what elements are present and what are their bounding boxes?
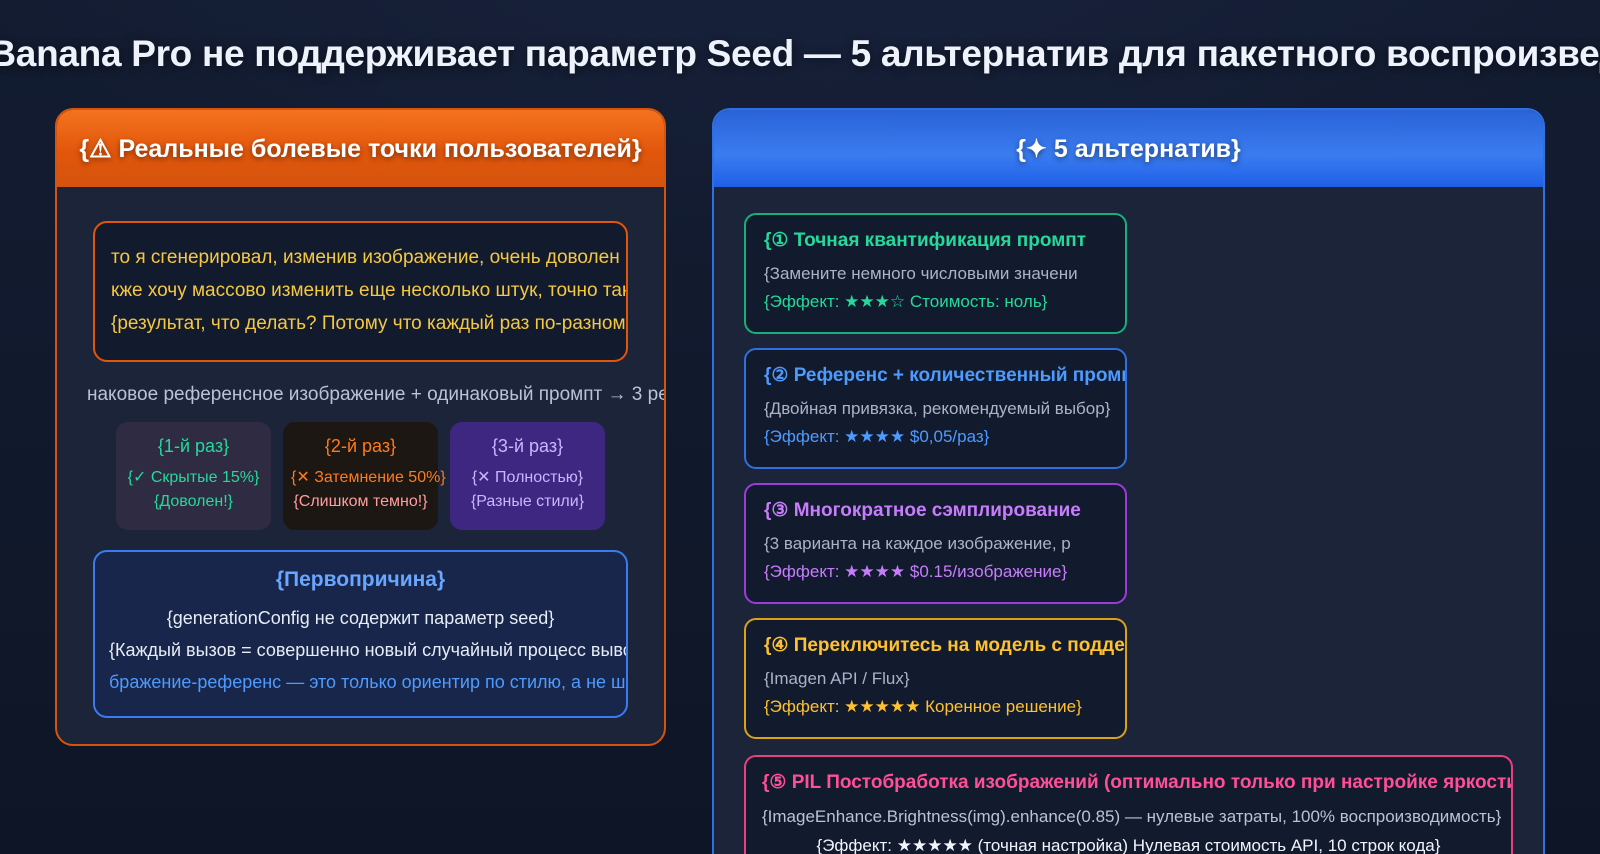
user-quote-line-3: {результат, что делать? Потому что кажды… (111, 307, 610, 340)
result-box-2-line-2: {Слишком темно!} (291, 490, 430, 514)
page-title: о Banana Pro не поддерживает параметр Se… (0, 33, 1600, 75)
result-box-1-line-1: {✓ Скрытые 15%} (124, 466, 263, 490)
alternative-1-title: {① Точная квантификация промпт (764, 229, 1107, 252)
pain-points-card-body: то я сгенерировал, изменив изображение, … (57, 187, 664, 744)
pil-subtitle: {ImageEnhance.Brightness(img).enhance(0.… (762, 802, 1495, 831)
alternative-box-1: {① Точная квантификация промпт {Замените… (744, 213, 1127, 334)
user-quote-line-1: то я сгенерировал, изменив изображение, … (111, 241, 610, 274)
pil-effect: {Эффект: ★★★★★ (точная настройка) Нулева… (762, 831, 1495, 854)
user-quote-box: то я сгенерировал, изменив изображение, … (93, 221, 628, 362)
root-cause-line-1: {generationConfig не содержит параметр s… (109, 602, 612, 634)
result-box-1-line-2: {Доволен!} (124, 490, 263, 514)
root-cause-line-2: {Каждый вызов = совершенно новый случайн… (109, 634, 612, 666)
result-box-2-title: {2-й раз} (291, 436, 430, 457)
flow-description: наковое референсное изображение + одинак… (87, 384, 634, 406)
alternative-1-subtitle: {Замените немного числовыми значени (764, 260, 1107, 288)
pain-points-card: {⚠ Реальные болевые точки пользователей}… (55, 108, 666, 746)
alternative-2-effect: {Эффект: ★★★★ $0,05/раз} (764, 423, 1107, 451)
root-cause-note: бражение-референс — это только ориентир … (109, 666, 612, 698)
user-quote-line-2: кже хочу массово изменить еще несколько … (111, 274, 610, 307)
pain-points-card-title: {⚠ Реальные болевые точки пользователей} (79, 134, 641, 164)
alternative-3-subtitle: {3 варианта на каждое изображение, р (764, 530, 1107, 558)
pil-title: {⑤ PIL Постобработка изображений (оптима… (762, 771, 1495, 794)
result-box-3-title: {3-й раз} (458, 436, 597, 457)
alternative-2-subtitle: {Двойная привязка, рекомендуемый выбор} (764, 395, 1107, 423)
alternative-1-effect: {Эффект: ★★★☆ Стоимость: ноль} (764, 288, 1107, 316)
alternatives-card-header: {✦ 5 альтернатив} (714, 110, 1543, 187)
pil-postprocessing-box: {⑤ PIL Постобработка изображений (оптима… (744, 755, 1513, 854)
alternatives-card: {✦ 5 альтернатив} {① Точная квантификаци… (712, 108, 1545, 854)
alternative-4-title: {④ Переключитесь на модель с поддерж (764, 634, 1107, 657)
alternative-box-3: {③ Многократное сэмплирование {3 вариант… (744, 483, 1127, 604)
page-title-bar: о Banana Pro не поддерживает параметр Se… (0, 0, 1600, 108)
alternative-box-4: {④ Переключитесь на модель с поддерж {Im… (744, 618, 1127, 739)
result-box-2: {2-й раз} {✕ Затемнение 50%} {Слишком те… (283, 422, 438, 530)
result-box-3: {3-й раз} {✕ Полностью} {Разные стили} (450, 422, 605, 530)
main-stage: {⚠ Реальные болевые точки пользователей}… (0, 108, 1600, 854)
alternative-4-subtitle: {Imagen API / Flux} (764, 665, 1107, 693)
alternative-3-effect: {Эффект: ★★★★ $0.15/изображение} (764, 558, 1107, 586)
pain-points-card-header: {⚠ Реальные болевые точки пользователей} (57, 110, 664, 187)
result-box-3-line-1: {✕ Полностью} (458, 466, 597, 490)
alternative-box-2: {② Референс + количественный промпт} {Дв… (744, 348, 1127, 469)
result-box-3-line-2: {Разные стили} (458, 490, 597, 514)
alternatives-card-title: {✦ 5 альтернатив} (1016, 134, 1241, 164)
root-cause-title: {Первопричина} (109, 568, 612, 592)
result-box-2-line-1: {✕ Затемнение 50%} (291, 466, 430, 490)
result-box-1-title: {1-й раз} (124, 436, 263, 457)
root-cause-box: {Первопричина} {generationConfig не соде… (93, 550, 628, 718)
result-boxes-row: {1-й раз} {✓ Скрытые 15%} {Доволен!} {2-… (87, 422, 634, 530)
result-box-1: {1-й раз} {✓ Скрытые 15%} {Доволен!} (116, 422, 271, 530)
alternatives-grid: {① Точная квантификация промпт {Замените… (744, 213, 1513, 739)
alternative-2-title: {② Референс + количественный промпт} (764, 364, 1107, 387)
alternative-4-effect: {Эффект: ★★★★★ Коренное решение} (764, 693, 1107, 721)
alternatives-card-body: {① Точная квантификация промпт {Замените… (714, 187, 1543, 854)
alternative-3-title: {③ Многократное сэмплирование (764, 499, 1107, 522)
